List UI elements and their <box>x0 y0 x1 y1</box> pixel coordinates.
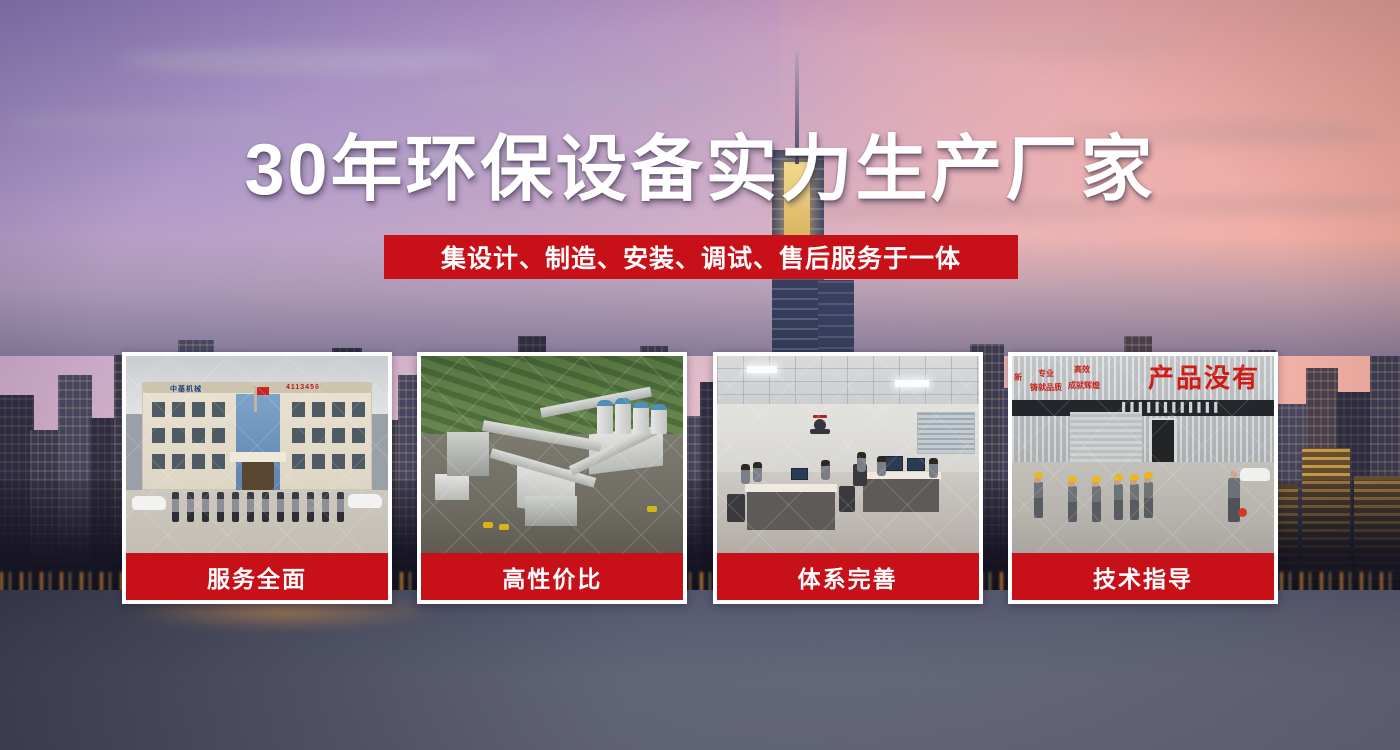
card-caption-bar: 体系完善 <box>717 553 979 600</box>
factory-slogan-1: 新 <box>1014 374 1022 383</box>
card-caption-text: 服务全面 <box>207 560 307 594</box>
building-signage: 中基机械 <box>170 384 202 394</box>
card-caption-text: 体系完善 <box>798 560 898 594</box>
factory-slogan-large: 产品没有 <box>1148 358 1260 395</box>
feature-card[interactable]: 中基机械 4113456 服务全面 <box>122 352 392 604</box>
hero-banner: 30年环保设备实力生产厂家 集设计、制造、安装、调试、售后服务于一体 <box>0 0 1400 750</box>
card-caption-bar: 技术指导 <box>1012 553 1274 600</box>
cloud-wisp <box>420 86 720 106</box>
card-photo-office-building: 中基机械 4113456 <box>126 356 388 553</box>
building-phone-number: 4113456 <box>286 384 320 391</box>
card-photo-aerial-plant <box>421 356 683 553</box>
subtitle-text: 集设计、制造、安装、调试、售后服务于一体 <box>441 239 961 275</box>
factory-slogan-4: 铸就品质 <box>1030 384 1062 393</box>
factory-slogan-5: 成就辉煌 <box>1068 382 1100 391</box>
card-caption-text: 高性价比 <box>502 560 602 594</box>
card-photo-office-interior <box>717 356 979 553</box>
card-photo-factory-workers: 产品没有 新 专业 高效 铸就品质 成就辉煌 ▌▌▌▌▌▌▌▌▌▌▌▌ <box>1012 356 1274 553</box>
subtitle-banner: 集设计、制造、安装、调试、售后服务于一体 <box>384 235 1018 279</box>
feature-card[interactable]: 体系完善 <box>713 352 983 604</box>
cloud-wisp <box>880 34 1180 56</box>
cloud-wisp <box>120 48 500 74</box>
feature-card-list: 中基机械 4113456 服务全面 <box>122 352 1278 604</box>
factory-window-strip: ▌▌▌▌▌▌▌▌▌▌▌▌ <box>1122 402 1223 412</box>
feature-card[interactable]: 产品没有 新 专业 高效 铸就品质 成就辉煌 ▌▌▌▌▌▌▌▌▌▌▌▌ <box>1008 352 1278 604</box>
factory-slogan-3: 高效 <box>1074 366 1090 375</box>
page-title: 30年环保设备实力生产厂家 <box>0 133 1400 209</box>
wall-decal-logo <box>803 412 837 438</box>
card-caption-text: 技术指导 <box>1093 560 1193 594</box>
card-caption-bar: 服务全面 <box>126 553 388 600</box>
feature-card[interactable]: 高性价比 <box>417 352 687 604</box>
card-caption-bar: 高性价比 <box>421 553 683 600</box>
factory-slogan-2: 专业 <box>1038 370 1054 379</box>
